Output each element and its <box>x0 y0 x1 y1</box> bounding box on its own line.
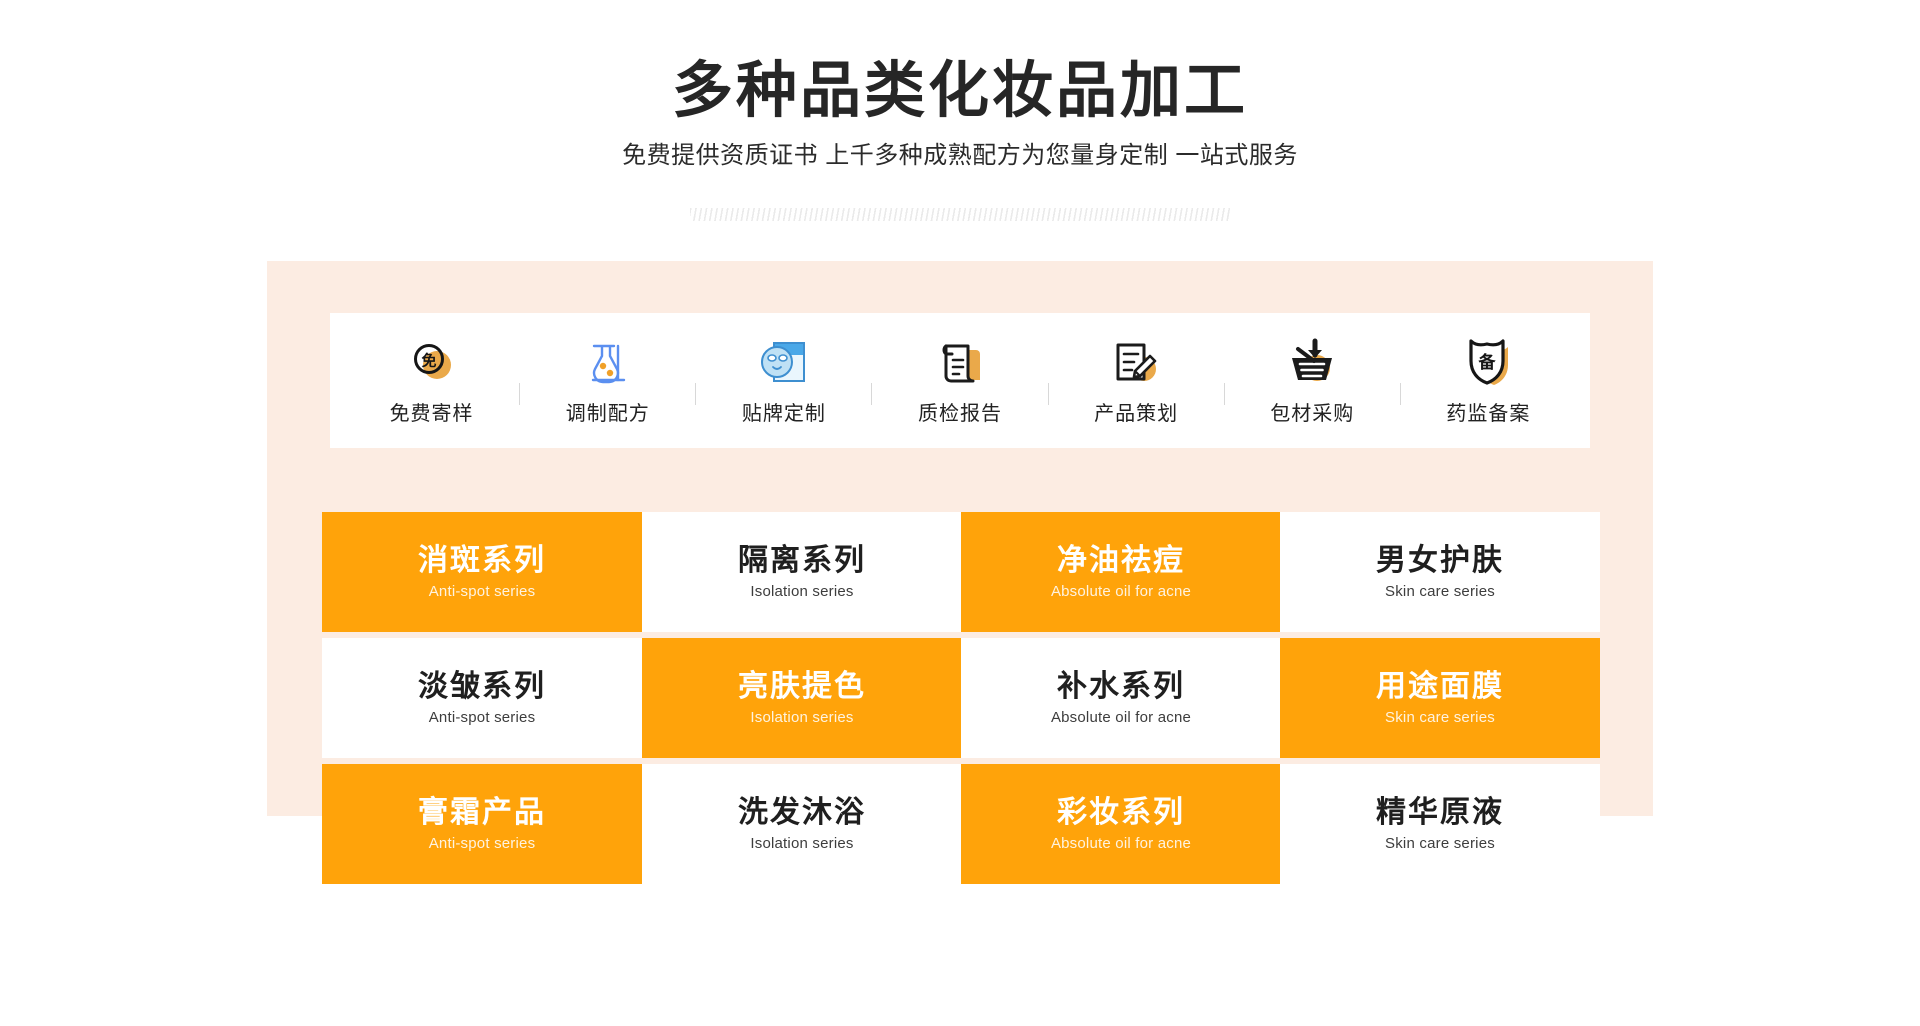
quality-report-scroll-icon <box>932 336 988 388</box>
product-name-en: Absolute oil for acne <box>1051 836 1191 853</box>
service-label: 调制配方 <box>566 397 650 426</box>
product-name-cn: 彩妆系列 <box>1057 796 1185 831</box>
page-subtitle: 免费提供资质证书 上千多种成熟配方为您量身定制 一站式服务 <box>0 122 1920 171</box>
service-item-oem[interactable]: 贴牌定制 <box>696 336 871 426</box>
service-label: 产品策划 <box>1094 397 1178 426</box>
service-item-formula[interactable]: 调制配方 <box>520 336 695 426</box>
product-name-en: Anti-spot series <box>429 584 536 601</box>
service-item-free-sample[interactable]: 免 免费寄样 <box>344 336 519 426</box>
product-name-cn: 隔离系列 <box>738 544 866 579</box>
svg-text:免: 免 <box>421 351 436 369</box>
product-cell[interactable]: 淡皱系列 Anti-spot series <box>322 638 642 758</box>
product-planning-pen-icon <box>1108 336 1164 388</box>
product-name-cn: 用途面膜 <box>1376 670 1504 705</box>
page-header: 多种品类化妆品加工 免费提供资质证书 上千多种成熟配方为您量身定制 一站式服务 <box>0 0 1920 260</box>
flask-formula-icon <box>580 336 636 388</box>
product-name-en: Isolation series <box>750 710 853 727</box>
product-name-en: Absolute oil for acne <box>1051 584 1191 601</box>
product-name-en: Isolation series <box>750 584 853 601</box>
product-name-cn: 淡皱系列 <box>418 670 546 705</box>
product-cell[interactable]: 彩妆系列 Absolute oil for acne <box>961 764 1281 884</box>
product-cell[interactable]: 隔离系列 Isolation series <box>642 512 962 632</box>
product-cell[interactable]: 男女护肤 Skin care series <box>1280 512 1600 632</box>
product-grid: 消斑系列 Anti-spot series 隔离系列 Isolation ser… <box>322 512 1600 884</box>
service-item-planning[interactable]: 产品策划 <box>1049 336 1224 426</box>
product-name-cn: 精华原液 <box>1376 796 1504 831</box>
product-cell[interactable]: 消斑系列 Anti-spot series <box>322 512 642 632</box>
product-cell[interactable]: 精华原液 Skin care series <box>1280 764 1600 884</box>
service-label: 免费寄样 <box>390 397 474 426</box>
decorative-hatch-band <box>690 208 1230 221</box>
facial-mask-oem-icon <box>756 336 812 388</box>
service-item-quality-report[interactable]: 质检报告 <box>872 336 1047 426</box>
page-root: 多种品类化妆品加工 免费提供资质证书 上千多种成熟配方为您量身定制 一站式服务 … <box>0 0 1920 1026</box>
service-strip: 免 免费寄样 调制配方 <box>330 313 1590 448</box>
product-name-cn: 消斑系列 <box>418 544 546 579</box>
service-label: 质检报告 <box>918 397 1002 426</box>
product-name-cn: 洗发沐浴 <box>738 796 866 831</box>
product-name-en: Anti-spot series <box>429 710 536 727</box>
service-item-drug-record[interactable]: 备 药监备案 <box>1401 336 1576 426</box>
service-label: 贴牌定制 <box>742 397 826 426</box>
drug-record-shield-icon: 备 <box>1460 336 1516 388</box>
product-cell[interactable]: 洗发沐浴 Isolation series <box>642 764 962 884</box>
product-name-en: Skin care series <box>1385 710 1495 727</box>
svg-text:备: 备 <box>1478 352 1497 372</box>
product-name-en: Skin care series <box>1385 836 1495 853</box>
service-label: 包材采购 <box>1270 397 1354 426</box>
product-name-en: Isolation series <box>750 836 853 853</box>
product-cell[interactable]: 用途面膜 Skin care series <box>1280 638 1600 758</box>
page-title: 多种品类化妆品加工 <box>0 0 1920 122</box>
product-name-en: Absolute oil for acne <box>1051 710 1191 727</box>
product-cell[interactable]: 补水系列 Absolute oil for acne <box>961 638 1281 758</box>
service-label: 药监备案 <box>1446 397 1530 426</box>
product-name-en: Skin care series <box>1385 584 1495 601</box>
product-name-cn: 亮肤提色 <box>738 670 866 705</box>
product-cell[interactable]: 亮肤提色 Isolation series <box>642 638 962 758</box>
product-name-cn: 净油祛痘 <box>1057 544 1185 579</box>
product-name-cn: 膏霜产品 <box>418 796 546 831</box>
product-name-cn: 男女护肤 <box>1376 544 1504 579</box>
service-item-packaging[interactable]: 包材采购 <box>1225 336 1400 426</box>
packaging-purchase-basket-icon <box>1284 336 1340 388</box>
product-name-en: Anti-spot series <box>429 836 536 853</box>
product-cell[interactable]: 膏霜产品 Anti-spot series <box>322 764 642 884</box>
product-name-cn: 补水系列 <box>1057 670 1185 705</box>
free-sample-coin-icon: 免 <box>404 336 460 388</box>
product-cell[interactable]: 净油祛痘 Absolute oil for acne <box>961 512 1281 632</box>
